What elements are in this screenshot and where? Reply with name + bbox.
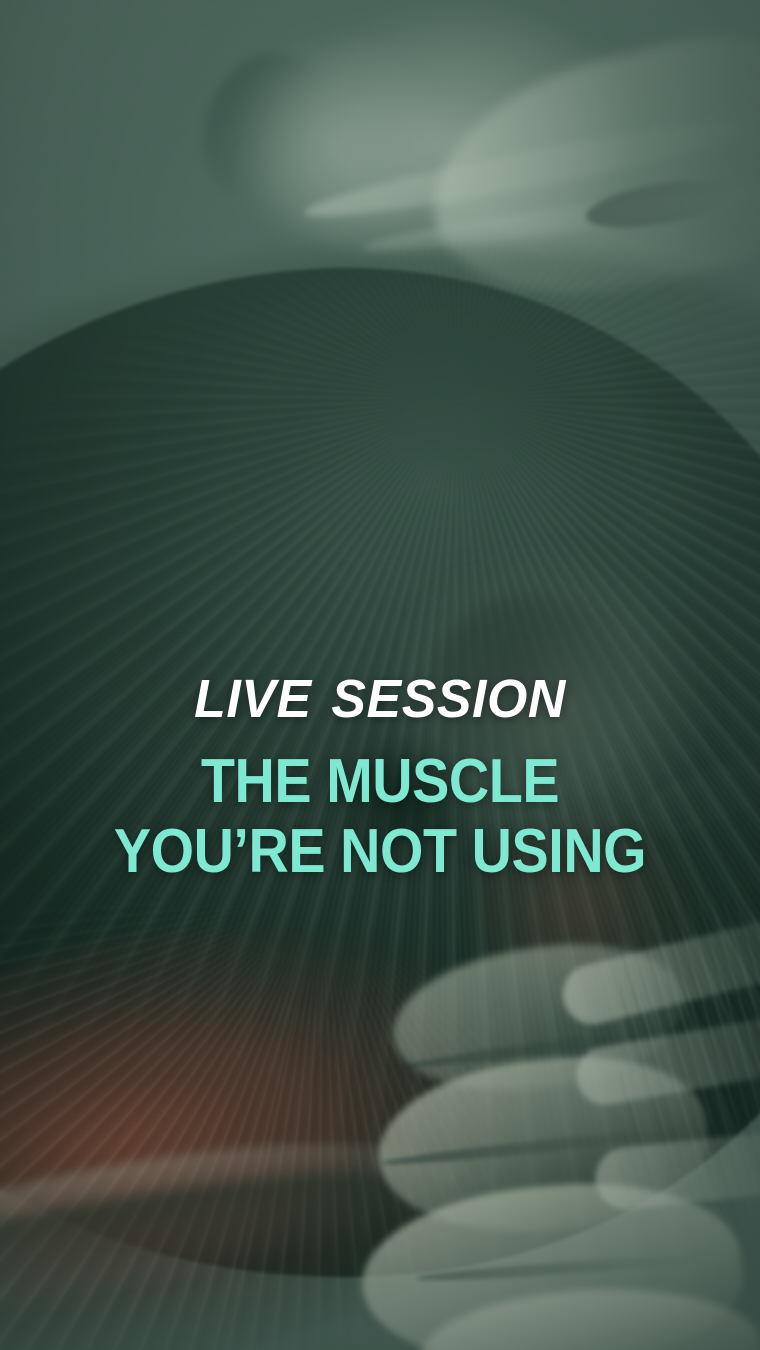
kicker-live-session: LIVE SESSION xyxy=(32,672,727,726)
promo-graphic: LIVE SESSION THE MUSCLE YOU’RE NOT USING xyxy=(0,0,760,1350)
headline-line-1: THE MUSCLE xyxy=(54,748,706,816)
overlay-copy: LIVE SESSION THE MUSCLE YOU’RE NOT USING xyxy=(0,672,760,886)
headline-line-2: YOU’RE NOT USING xyxy=(54,818,706,886)
